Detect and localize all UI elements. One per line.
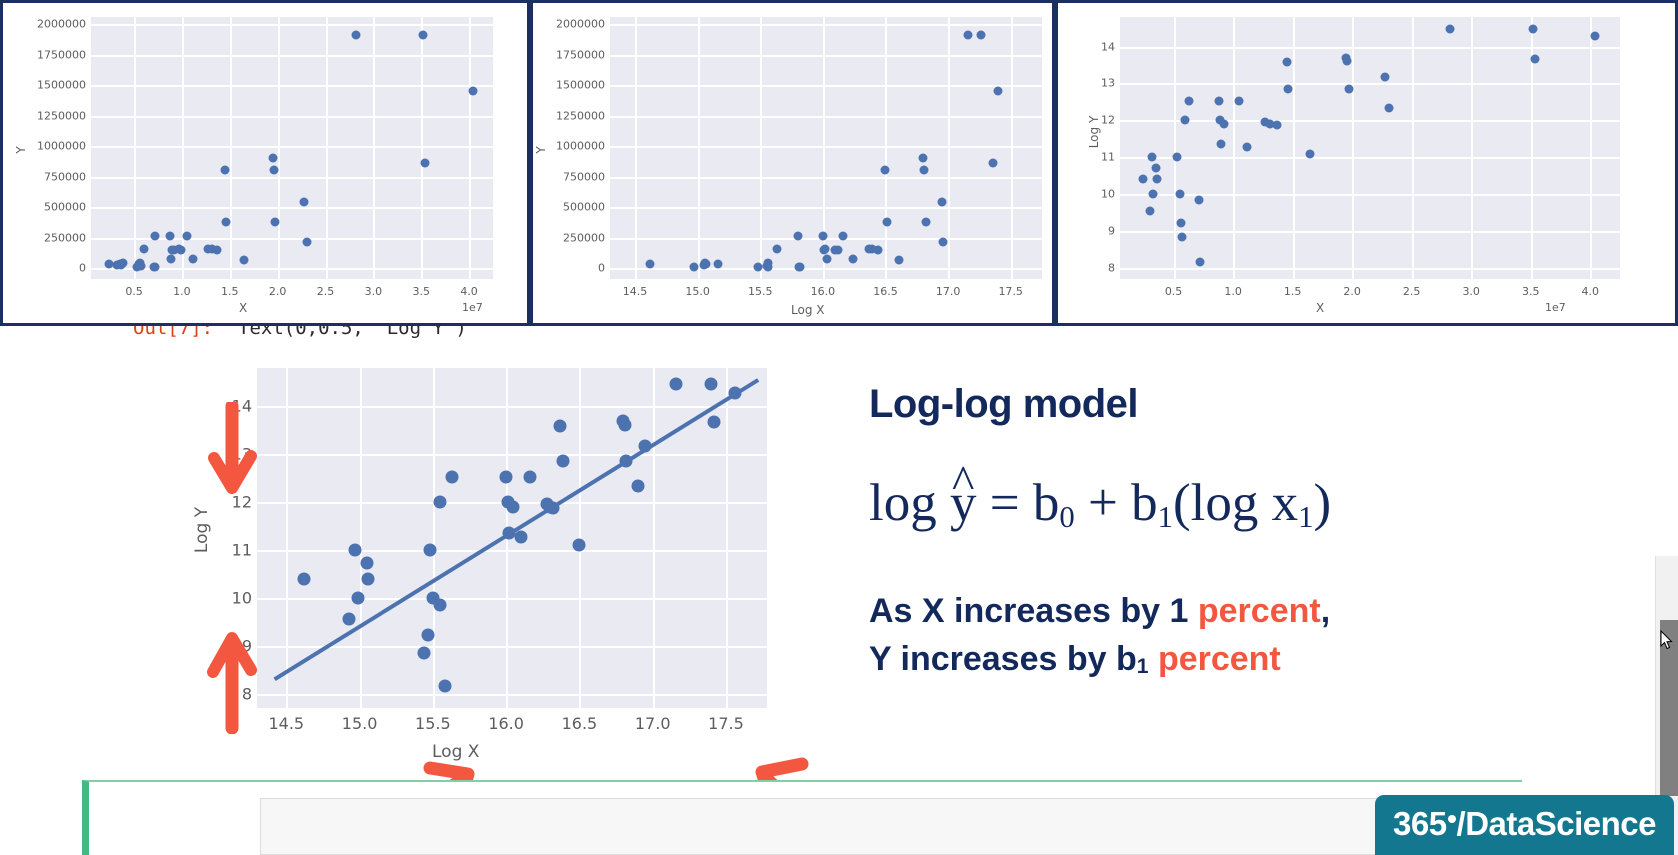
gridline-horizontal <box>1120 231 1620 233</box>
y-tick-label: 2000000 <box>548 18 605 31</box>
scatter-point <box>1149 190 1158 199</box>
scatter-point <box>1283 84 1292 93</box>
gridline-vertical <box>1590 17 1592 279</box>
axes-area-main <box>257 368 767 708</box>
formula-b1: b1 <box>1131 474 1173 532</box>
scatter-point <box>1152 175 1161 184</box>
gridline-horizontal <box>91 55 493 57</box>
y-tick-label: 11 <box>225 540 252 559</box>
scatter-point <box>176 245 185 254</box>
scatter-point <box>793 231 802 240</box>
gridline-horizontal <box>610 146 1042 148</box>
out-value-text: Text(0,0.5, 'Log Y') <box>238 326 467 339</box>
scatter-point <box>360 557 373 570</box>
scatter-point <box>1235 97 1244 106</box>
scatter-point <box>421 159 430 168</box>
gridline-horizontal <box>1120 157 1620 159</box>
scatter-point <box>1176 218 1185 227</box>
annotation-arrow-up <box>205 624 265 734</box>
gridline-horizontal <box>91 177 493 179</box>
x-tick-label: 1.0 <box>173 285 191 298</box>
y-tick-label: 14 <box>1092 40 1115 53</box>
badge-check-icon: / <box>1457 805 1466 843</box>
formula-x-sub: 1 <box>1298 500 1313 534</box>
scatter-point <box>939 237 948 246</box>
y-tick-label: 1000000 <box>548 140 605 153</box>
x-tick-label: 2.0 <box>269 285 287 298</box>
gridline-vertical <box>1412 17 1414 279</box>
x-tick-label: 0.5 <box>1165 285 1183 298</box>
slide-title: Log-log model <box>869 382 1489 427</box>
x-tick-label: 16.0 <box>488 714 524 733</box>
formula-log1: log <box>869 474 937 532</box>
scatter-point <box>705 377 718 390</box>
scatter-point <box>213 246 222 255</box>
scatter-point <box>689 262 698 271</box>
x-tick-label: 2.0 <box>1343 285 1361 298</box>
scatter-point <box>434 496 447 509</box>
scatter-point <box>646 260 655 269</box>
notebook-cell-input-area[interactable] <box>260 798 1504 855</box>
y-tick-label: 8 <box>1092 261 1115 274</box>
scatter-point <box>118 259 127 268</box>
scatter-point <box>639 439 652 452</box>
x-tick-label: 17.0 <box>936 285 961 298</box>
x-axis-offset-3: 1e7 <box>1545 301 1566 314</box>
slide-body: 14.515.015.516.016.517.017.5891011121314… <box>57 352 1546 855</box>
x-tick-label: 16.0 <box>811 285 836 298</box>
badge-brand: DataScience <box>1465 805 1656 842</box>
scatter-point <box>1385 104 1394 113</box>
gridline-horizontal <box>91 207 493 209</box>
scatter-point <box>136 261 145 270</box>
statement-1-post: , <box>1321 592 1330 630</box>
scatter-point <box>182 232 191 241</box>
x-tick-label: 17.5 <box>998 285 1023 298</box>
scatter-point <box>976 31 985 40</box>
gridline-horizontal <box>1120 268 1620 270</box>
plot-panel-y-vs-x[interactable]: 0.51.01.52.02.53.03.54.00250000500000750… <box>0 0 530 326</box>
x-tick-label: 16.5 <box>873 285 898 298</box>
y-axis-label-1: Y <box>14 140 28 160</box>
x-tick-label: 1.0 <box>1224 285 1242 298</box>
scatter-point <box>151 231 160 240</box>
scatter-point <box>1175 190 1184 199</box>
x-tick-label: 17.5 <box>708 714 744 733</box>
x-tick-label: 17.0 <box>635 714 671 733</box>
scatter-point <box>514 531 527 544</box>
scatter-point <box>151 263 160 272</box>
scatter-point <box>882 217 891 226</box>
scatter-point <box>632 480 645 493</box>
scatter-point <box>438 680 451 693</box>
x-tick-label: 3.5 <box>1522 285 1540 298</box>
scatter-point <box>1343 57 1352 66</box>
scatter-point <box>1148 153 1157 162</box>
y-tick-label: 750000 <box>29 170 86 183</box>
gridline-horizontal <box>91 146 493 148</box>
scatter-point <box>554 420 567 433</box>
scatter-point <box>873 246 882 255</box>
scatter-point <box>1445 25 1454 34</box>
gridline-horizontal <box>1120 120 1620 122</box>
scatter-point <box>1217 140 1226 149</box>
scatter-point <box>1273 120 1282 129</box>
axes-area-1 <box>91 17 493 279</box>
formula-plus: + <box>1088 474 1118 532</box>
y-tick-label: 500000 <box>29 201 86 214</box>
scatter-point <box>620 455 633 468</box>
scatter-point <box>708 416 721 429</box>
scatter-point <box>838 232 847 241</box>
x-tick-label: 15.5 <box>415 714 451 733</box>
scatter-point <box>895 256 904 265</box>
statement-2-sub: 1 <box>1137 655 1149 678</box>
scatter-point <box>189 254 198 263</box>
mouse-cursor-icon <box>1660 630 1673 650</box>
scatter-point <box>468 87 477 96</box>
scatter-point <box>418 646 431 659</box>
statement-2-pre: Y increases by b <box>869 640 1137 678</box>
formula-b0: b0 <box>1033 474 1075 532</box>
x-tick-label: 1.5 <box>221 285 239 298</box>
scatter-point <box>297 572 310 585</box>
x-axis-label-2: Log X <box>791 303 824 317</box>
scatter-point <box>1151 163 1160 172</box>
scatter-point <box>573 539 586 552</box>
scatter-point <box>422 628 435 641</box>
gridline-horizontal <box>610 177 1042 179</box>
badge-dot-icon <box>1448 815 1456 823</box>
gridline-horizontal <box>1120 83 1620 85</box>
y-tick-label: 250000 <box>29 231 86 244</box>
scatter-point <box>1185 97 1194 106</box>
formula-log-log: log ^y = b0 + b1(log x1) <box>869 473 1489 535</box>
x-tick-label: 15.5 <box>748 285 773 298</box>
scatter-point <box>1529 25 1538 34</box>
y-tick-label: 9 <box>1092 225 1115 238</box>
x-tick-label: 3.5 <box>412 285 430 298</box>
x-tick-label: 14.5 <box>268 714 304 733</box>
scatter-point <box>1195 258 1204 267</box>
scatter-point <box>166 231 175 240</box>
scatter-point <box>818 231 827 240</box>
notebook-plot-filmstrip: 0.51.01.52.02.53.03.54.00250000500000750… <box>0 0 1678 326</box>
x-axis-offset-1: 1e7 <box>462 301 483 314</box>
scatter-point <box>821 244 830 253</box>
scatter-point <box>547 501 560 514</box>
y-tick-label: 0 <box>548 262 605 275</box>
scatter-point <box>796 263 805 272</box>
x-tick-label: 15.0 <box>342 714 378 733</box>
formula-close-paren: ) <box>1314 474 1332 532</box>
plot-panel-logy-vs-x[interactable]: 0.51.01.52.02.53.03.54.0891011121314 X L… <box>1055 0 1678 326</box>
formula-equals: = <box>990 474 1020 532</box>
axes-area-2 <box>610 17 1042 279</box>
notebook-output-line: Out[7]: Text(0,0.5, 'Log Y') <box>0 326 1678 352</box>
formula-hat-mark: ^ <box>952 459 974 507</box>
scatter-point <box>352 591 365 604</box>
y-tick-label: 1500000 <box>548 79 605 92</box>
scatter-point <box>1214 97 1223 106</box>
y-tick-label: 750000 <box>548 170 605 183</box>
y-axis-label-2: Y <box>534 140 548 160</box>
scatter-point <box>1344 84 1353 93</box>
gridline-vertical <box>1352 17 1354 279</box>
scatter-point <box>1531 54 1540 63</box>
brand-badge-365datascience: 365/DataScience <box>1375 795 1674 855</box>
scatter-point <box>1282 58 1291 67</box>
gridline-horizontal <box>610 207 1042 209</box>
scatter-point <box>772 244 781 253</box>
scatter-point <box>670 377 683 390</box>
x-tick-label: 14.5 <box>623 285 648 298</box>
gridline-vertical <box>1233 17 1235 279</box>
y-tick-label: 13 <box>1092 77 1115 90</box>
y-tick-label: 1250000 <box>29 109 86 122</box>
badge-number: 365 <box>1393 805 1447 842</box>
gridline-horizontal <box>610 85 1042 87</box>
statement-line-2: Y increases by b1 percent <box>869 635 1489 683</box>
scatter-point <box>1194 195 1203 204</box>
scatter-point <box>139 244 148 253</box>
y-tick-label: 1750000 <box>548 48 605 61</box>
scatter-point <box>268 153 277 162</box>
scatter-point <box>300 198 309 207</box>
y-tick-label: 1750000 <box>29 48 86 61</box>
x-tick-label: 4.0 <box>1581 285 1599 298</box>
gridline-horizontal <box>610 55 1042 57</box>
gridline-horizontal <box>91 116 493 118</box>
x-tick-label: 4.0 <box>460 285 478 298</box>
scatter-point <box>1591 32 1600 41</box>
y-axis-label-3: Log Y <box>1087 110 1101 154</box>
scatter-point <box>423 543 436 556</box>
statement-2-highlight: percent <box>1158 640 1281 678</box>
scatter-point <box>434 599 447 612</box>
gridline-vertical <box>1174 17 1176 279</box>
scatter-point <box>964 31 973 40</box>
scatter-point <box>269 165 278 174</box>
formula-yhat: ^y <box>950 473 977 533</box>
x-tick-label: 2.5 <box>1403 285 1421 298</box>
scatter-point <box>1177 232 1186 241</box>
x-axis-label-3: X <box>1316 301 1324 315</box>
x-tick-label: 0.5 <box>125 285 143 298</box>
gridline-horizontal <box>91 24 493 26</box>
gridline-horizontal <box>610 116 1042 118</box>
scatter-point <box>728 386 741 399</box>
scatter-point <box>989 159 998 168</box>
plot-panel-y-vs-logx[interactable]: 14.515.015.516.016.517.017.5025000050000… <box>530 0 1055 326</box>
y-tick-label: 10 <box>1092 188 1115 201</box>
gridline-vertical <box>1471 17 1473 279</box>
gridline-horizontal <box>1120 47 1620 49</box>
scatter-point <box>1173 153 1182 162</box>
scatter-point <box>937 198 946 207</box>
y-tick-label: 0 <box>29 262 86 275</box>
scatter-point <box>822 254 831 263</box>
scatter-point <box>270 217 279 226</box>
gridline-vertical <box>1293 17 1295 279</box>
scatter-point <box>445 471 458 484</box>
scatter-point <box>1181 116 1190 125</box>
scatter-point <box>221 217 230 226</box>
scatter-point <box>303 237 312 246</box>
x-tick-label: 15.0 <box>685 285 710 298</box>
y-tick-label: 1000000 <box>29 140 86 153</box>
scatter-point <box>362 572 375 585</box>
scatter-point <box>921 217 930 226</box>
x-tick-label: 16.5 <box>562 714 598 733</box>
x-tick-label: 1.5 <box>1284 285 1302 298</box>
statement-1-highlight: percent <box>1198 592 1321 630</box>
axes-area-3 <box>1120 17 1620 279</box>
scatter-point <box>349 543 362 556</box>
scatter-point <box>221 165 230 174</box>
scatter-point <box>919 153 928 162</box>
statement-1-pre: As X increases by 1 <box>869 592 1198 630</box>
y-tick-label: 2000000 <box>29 18 86 31</box>
scatter-point <box>1145 206 1154 215</box>
scatter-point <box>833 245 842 254</box>
scatter-point <box>1243 143 1252 152</box>
notebook-cell-selected[interactable] <box>82 780 1522 855</box>
y-tick-label: 1500000 <box>29 79 86 92</box>
scatter-point <box>557 455 570 468</box>
scatter-point <box>702 259 711 268</box>
formula-logx-open: (log x <box>1173 474 1298 532</box>
scatter-point <box>343 613 356 626</box>
scatter-point <box>352 31 361 40</box>
scatter-point <box>1381 72 1390 81</box>
gridline-horizontal <box>91 85 493 87</box>
slide-text-column: Log-log model log ^y = b0 + b1(log x1) A… <box>869 382 1489 683</box>
scatter-point <box>507 500 520 513</box>
scatter-point <box>167 254 176 263</box>
scatter-point <box>763 262 772 271</box>
scatter-point <box>1138 175 1147 184</box>
x-axis-label-1: X <box>239 301 247 315</box>
x-tick-label: 3.0 <box>365 285 383 298</box>
y-tick-label: 10 <box>225 588 252 607</box>
scatter-point <box>419 31 428 40</box>
scatter-point <box>848 254 857 263</box>
scatter-point <box>994 87 1003 96</box>
x-tick-label: 3.0 <box>1462 285 1480 298</box>
scatter-point <box>920 165 929 174</box>
annotation-arrow-down <box>205 402 265 502</box>
x-tick-label: 2.5 <box>317 285 335 298</box>
scatter-point <box>881 165 890 174</box>
out-prompt-label: Out[7]: <box>133 326 213 339</box>
y-tick-label: 250000 <box>548 231 605 244</box>
scatter-point <box>1306 149 1315 158</box>
y-axis-label-main: Log Y <box>192 495 212 565</box>
gridline-horizontal <box>610 24 1042 26</box>
scatter-point <box>1219 120 1228 129</box>
scatter-point <box>753 263 762 272</box>
scatter-point <box>618 419 631 432</box>
statement-line-1: As X increases by 1 percent, <box>869 587 1489 635</box>
gridline-horizontal <box>610 268 1042 270</box>
y-tick-label: 1250000 <box>548 109 605 122</box>
scatter-point <box>523 471 536 484</box>
scatter-point <box>240 256 249 265</box>
scatter-point <box>713 259 722 268</box>
y-tick-label: 500000 <box>548 201 605 214</box>
scatter-point <box>500 471 513 484</box>
